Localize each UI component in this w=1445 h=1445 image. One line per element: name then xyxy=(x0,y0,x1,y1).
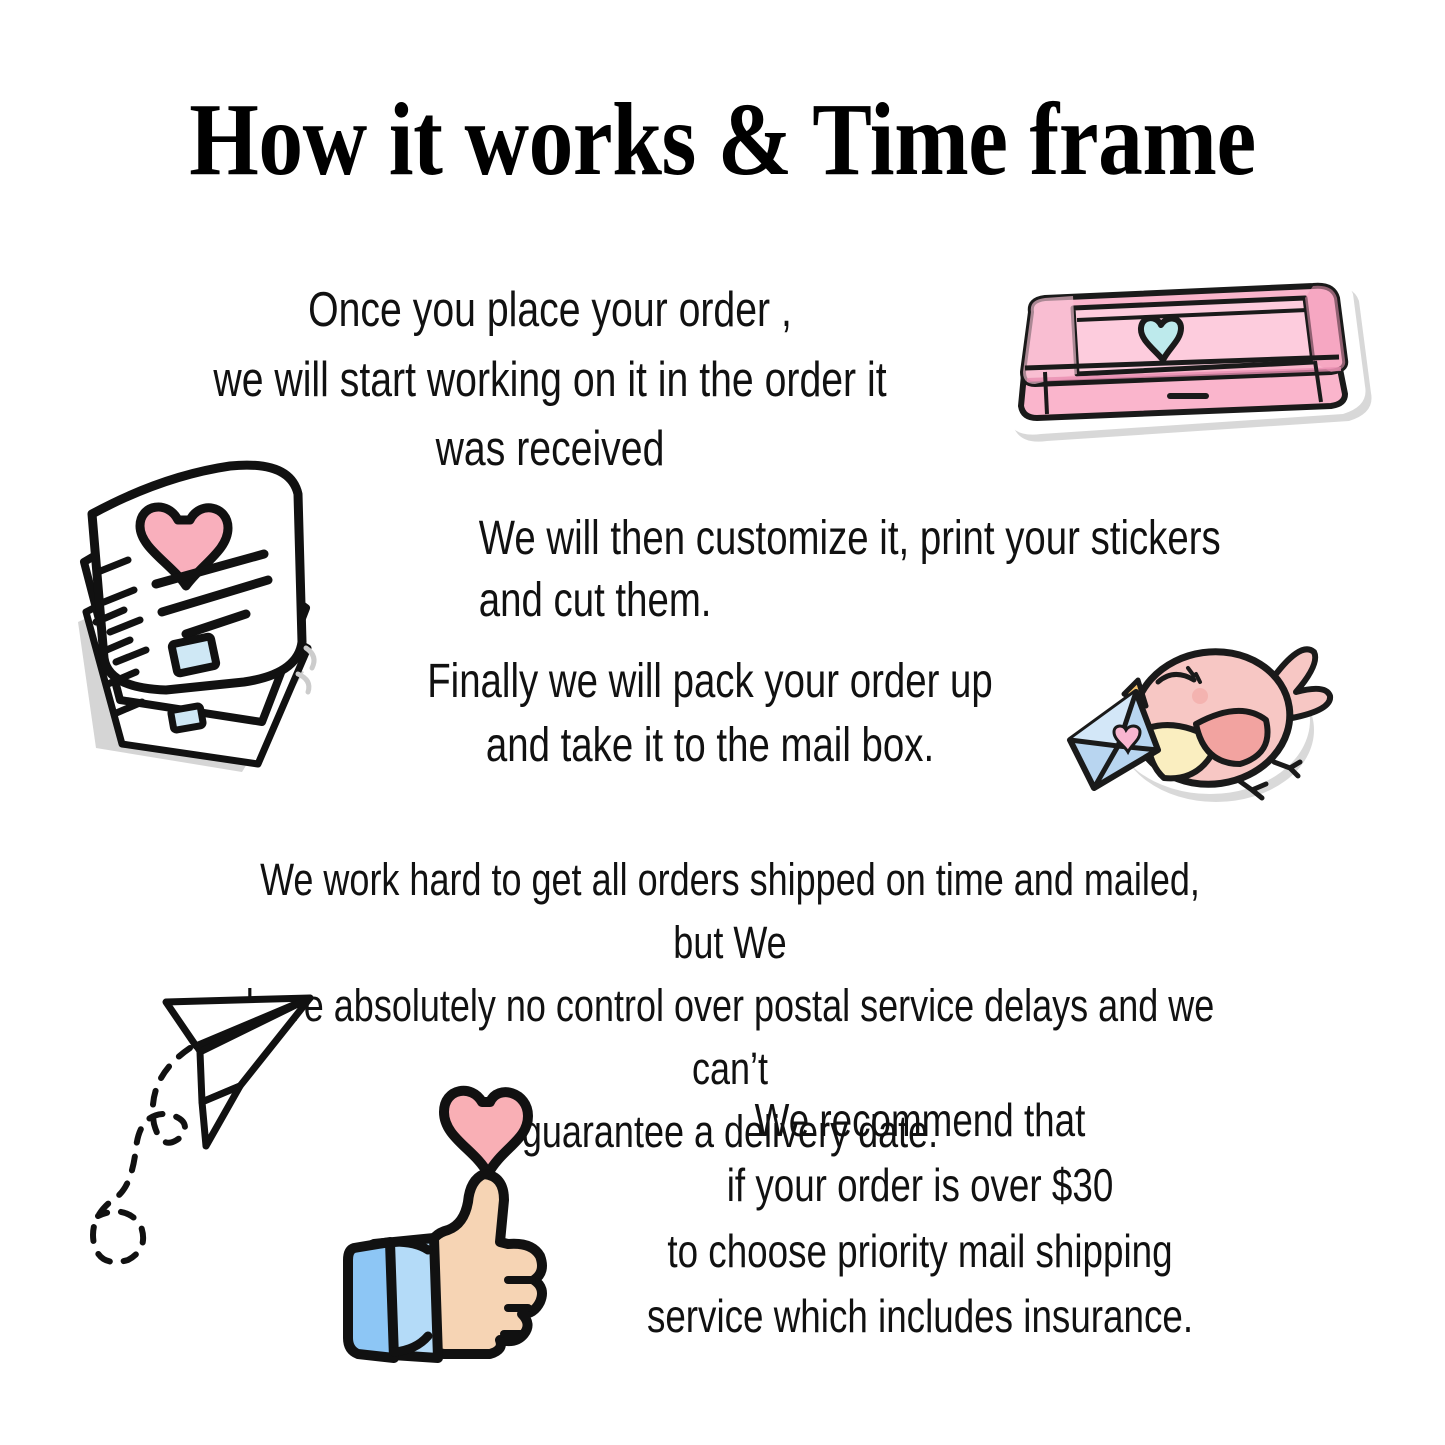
sticker-sheets-icon xyxy=(62,452,362,792)
paragraph-priority-mail-recommendation: We recommend that if your order is over … xyxy=(616,1088,1224,1349)
cutting-machine-icon xyxy=(985,268,1375,453)
page-title: How it works & Time frame xyxy=(101,88,1344,192)
mail-bird-icon xyxy=(1052,612,1372,827)
paper-airplane-icon xyxy=(62,972,342,1262)
infographic-canvas: How it works & Time frame Once you place… xyxy=(0,0,1445,1445)
paragraph-pack-and-mail: Finally we will pack your order up and t… xyxy=(382,650,1038,778)
thumbs-up-icon xyxy=(332,1082,594,1364)
